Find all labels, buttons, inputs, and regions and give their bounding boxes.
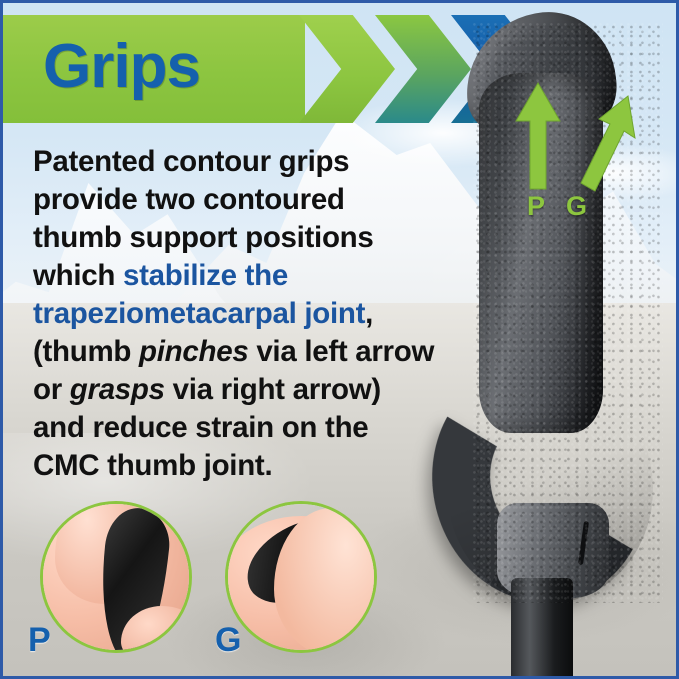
copy-line: or grasps via right arrow) <box>33 371 463 409</box>
grip-arrow-label-g: G <box>566 191 587 222</box>
copy-text: (thumb <box>33 335 139 368</box>
copy-text: Patented contour grips <box>33 145 349 178</box>
copy-line: thumb support positions <box>33 219 463 257</box>
copy-text: and reduce strain on the <box>33 411 368 444</box>
copy-line: which stabilize the <box>33 257 463 295</box>
copy-line: provide two contoured <box>33 181 463 219</box>
copy-text: which <box>33 259 123 292</box>
copy-line: CMC thumb joint. <box>33 447 463 485</box>
page-title: Grips <box>43 31 200 102</box>
copy-highlight: trapeziometacarpal joint <box>33 297 365 330</box>
inset-label-p: P <box>28 621 51 660</box>
copy-text: or <box>33 373 70 406</box>
copy-text: via right arrow) <box>165 373 381 406</box>
inset-photo-pinch <box>40 501 192 653</box>
copy-text: CMC thumb joint. <box>33 449 272 482</box>
copy-text: thumb support positions <box>33 221 374 254</box>
copy-text: , <box>365 297 373 330</box>
copy-emphasis: grasps <box>70 373 165 406</box>
chevron-right-icon <box>299 15 395 123</box>
copy-highlight: stabilize the <box>123 259 288 292</box>
copy-text: provide two contoured <box>33 183 345 216</box>
copy-line: trapeziometacarpal joint, <box>33 295 463 333</box>
copy-text: via left arrow <box>248 335 434 368</box>
copy-line: Patented contour grips <box>33 143 463 181</box>
inset-label-g: G <box>215 621 241 660</box>
copy-line: (thumb pinches via left arrow <box>33 333 463 371</box>
grasp-arrow-icon <box>579 93 639 193</box>
feature-card: Grips P G Patented contour grips provide… <box>0 0 679 679</box>
copy-line: and reduce strain on the <box>33 409 463 447</box>
cane-shaft <box>511 578 573 679</box>
copy-emphasis: pinches <box>139 335 248 368</box>
pinch-arrow-icon <box>515 81 561 191</box>
body-copy: Patented contour grips provide two conto… <box>33 143 463 485</box>
grip-arrow-label-p: P <box>527 191 545 222</box>
inset-photo-grasp <box>225 501 377 653</box>
